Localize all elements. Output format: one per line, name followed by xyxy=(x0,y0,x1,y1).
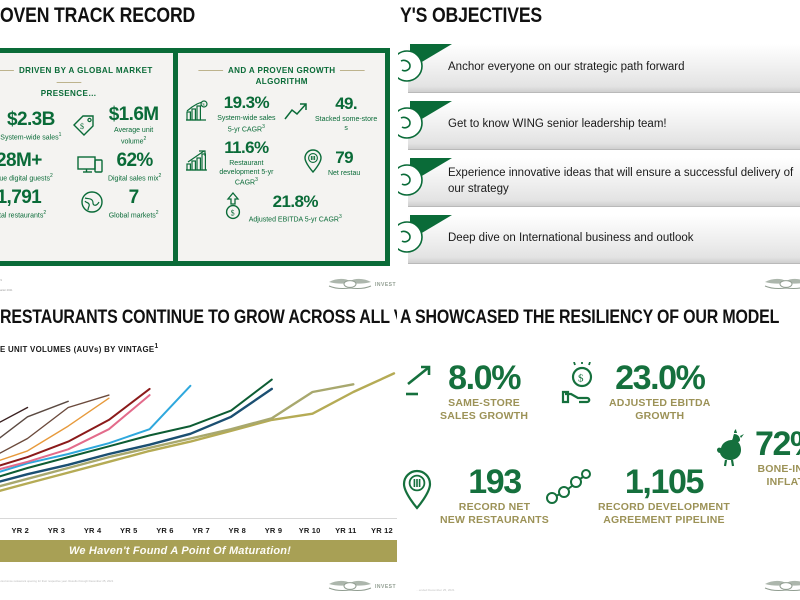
stat-label-text: Global markets xyxy=(109,213,156,220)
stat-value: 79 xyxy=(335,148,353,167)
objective-bar: Experience innovative ideas that will en… xyxy=(408,158,800,207)
stat-label-sup: 2 xyxy=(156,210,159,216)
x-tick-3: YR 3 xyxy=(38,526,74,535)
stat-text: 49. Stacked some-store s xyxy=(313,95,379,134)
stat-label-sup: 2 xyxy=(144,136,147,142)
stat-value: 28M+ xyxy=(0,150,42,171)
globe-icon xyxy=(79,189,105,220)
global-presence-heading: DRIVEN BY A GLOBAL MARKET PRESENCE… xyxy=(0,65,164,99)
objective-row-4[interactable]: Deep dive on International business and … xyxy=(398,215,800,263)
trend-arrow-icon xyxy=(283,101,309,128)
kpi-body: 72% BONE-IN W INFLATI xyxy=(755,428,800,488)
trend-arrow-icon xyxy=(404,362,434,407)
stat-label-text: Digital sales mix xyxy=(108,176,159,183)
kpi-label-line2: GROWTH xyxy=(609,410,711,423)
kpi-record-development-agreement-pipeline: 1,105 RECORD DEVELOPMENT AGREEMENT PIPEL… xyxy=(546,466,730,526)
kpi-body: 1,105 RECORD DEVELOPMENT AGREEMENT PIPEL… xyxy=(598,466,730,526)
x-axis-tick-labels: YR 1YR 2YR 3YR 4YR 5YR 6YR 7YR 8YR 9YR 1… xyxy=(0,519,400,541)
stat-total-restaurants: 1,791 Total restaurants2 xyxy=(0,186,69,223)
slide-vintage-chart: RESTAURANTS CONTINUE TO GROW ACROSS ALL … xyxy=(0,300,400,600)
slide1-title: OVEN TRACK RECORD xyxy=(0,4,195,28)
stat-label-text: System-wide sales 5-yr CAGR xyxy=(217,115,275,133)
x-tick-2: YR 2 xyxy=(2,526,38,535)
stat-label-text: System-wide sales xyxy=(0,134,58,141)
stat-value: 1,791 xyxy=(0,187,41,208)
kpi-value: 8.0% xyxy=(440,362,528,394)
global-presence-stats: $2.3B System-wide sales1 $ $1.6M Average… xyxy=(0,103,169,223)
slide4-footnote: …ended December 25, 2021 xyxy=(416,588,455,592)
stat-label: Unique digital guests2 xyxy=(0,173,53,184)
stat-label: Digital sales mix2 xyxy=(108,173,161,184)
fine-print-line: …of 2017 to end of the fiscal quarter 20… xyxy=(0,289,164,294)
wings-logo-icon xyxy=(764,278,800,292)
objective-bar: Get to know WING senior leadership team! xyxy=(408,101,800,150)
x-tick-4: YR 4 xyxy=(75,526,111,535)
x-tick-6: YR 6 xyxy=(147,526,183,535)
stat-value: 21.8% xyxy=(273,192,318,211)
slide-seam-vertical xyxy=(397,0,398,600)
stat-label-sup: 3 xyxy=(339,214,342,220)
stat-label-sup: 2 xyxy=(50,173,53,179)
stat-label-text: Adjusted EBITDA 5-yr CAGR xyxy=(249,216,339,223)
stat-label: Global markets2 xyxy=(109,210,159,221)
kpi-same-store-sales-growth: 8.0% SAME-STORE SALES GROWTH xyxy=(404,362,528,422)
stat-digital-sales-mix: 62% Digital sales mix2 xyxy=(69,149,169,186)
stat-text: 28M+ Unique digital guests2 xyxy=(0,151,53,184)
x-tick-7: YR 7 xyxy=(183,526,219,535)
objective-row-2[interactable]: Get to know WING senior leadership team! xyxy=(398,101,800,149)
maturation-banner-text: We Haven't Found A Point Of Maturation! xyxy=(69,545,291,557)
slide1-fine-print: …ended December 25, 2021 …ended March 26… xyxy=(0,270,164,293)
chart-x-axis: YR 1YR 2YR 3YR 4YR 5YR 6YR 7YR 8YR 9YR 1… xyxy=(0,518,400,542)
objective-bar: Anchor everyone on our strategic path fo… xyxy=(408,44,800,93)
x-tick-12: YR 12 xyxy=(364,526,400,535)
stat-text: 21.8% Adjusted EBITDA 5-yr CAGR3 xyxy=(249,193,342,225)
kpi-label-line2: AGREEMENT PIPELINE xyxy=(598,514,730,527)
chart-line-vintage-a xyxy=(0,373,394,503)
stat-value: 49. xyxy=(335,94,357,113)
stat-average-unit-volume: $ $1.6M Average unit volume2 xyxy=(69,103,169,149)
slide4-title: A SHOWCASED THE RESILIENCY OF OUR MODEL xyxy=(400,307,779,329)
logo-label: INVEST xyxy=(375,584,396,590)
stat-label-text: Total restaurants xyxy=(0,213,43,220)
stat-value: $1.6M xyxy=(109,104,159,125)
global-presence-panel: DRIVEN BY A GLOBAL MARKET PRESENCE… $2.3… xyxy=(0,53,173,261)
stat-label-text: Average unit volume xyxy=(114,127,153,145)
stat-label: System-wide sales 5-yr CAGR3 xyxy=(214,115,280,135)
kpi-label-line2: SALES GROWTH xyxy=(440,410,528,423)
stat-system-wide-sales-cagr: $ 19.3% System-wide sales 5-yr CAGR3 xyxy=(182,92,282,137)
stat-label: Stacked some-store s xyxy=(313,116,379,134)
stat-label-text: Unique digital guests xyxy=(0,176,50,183)
bar-chart-up-icon xyxy=(184,149,210,178)
chart-subtitle-text: E UNIT VOLUMES (AUVs) BY VINTAGE xyxy=(0,344,154,354)
x-tick-9: YR 9 xyxy=(255,526,291,535)
map-pin-icon xyxy=(400,466,434,515)
logo-label: INVEST xyxy=(375,282,396,288)
stat-label-sup: 1 xyxy=(59,132,62,138)
dollar-up-arrow-icon: $ xyxy=(221,192,245,225)
maturation-banner: We Haven't Found A Point Of Maturation! xyxy=(0,540,400,562)
objective-label: Experience innovative ideas that will en… xyxy=(448,166,800,197)
kpi-value: 23.0% xyxy=(609,362,711,394)
wing-badge-icon xyxy=(398,49,424,83)
wingstop-logo: INVEST xyxy=(328,580,396,594)
objectives-list: Anchor everyone on our strategic path fo… xyxy=(398,44,800,272)
stat-restaurant-development-cagr: 11.6% Restaurant development 5-yr CAGR3 xyxy=(182,137,282,191)
stat-label-text: Restaurant development 5-yr CAGR xyxy=(219,160,273,187)
chart-subtitle-sup: 1 xyxy=(154,342,158,350)
kpi-value: 1,105 xyxy=(598,466,730,498)
stat-text: 1,791 Total restaurants2 xyxy=(0,188,46,221)
stat-label-sup: 3 xyxy=(255,177,258,183)
pipeline-nodes-icon xyxy=(546,466,592,515)
stat-text: 79 Net restau xyxy=(328,149,360,179)
objective-row-3[interactable]: Experience innovative ideas that will en… xyxy=(398,158,800,206)
auv-chart-svg xyxy=(0,355,400,520)
stat-adjusted-ebitda-cagr: $ 21.8% Adjusted EBITDA 5-yr CAGR3 xyxy=(182,190,382,227)
growth-algorithm-panel: AND A PROVEN GROWTH ALGORITHM $ 19.3% Sy… xyxy=(173,53,386,261)
x-tick-11: YR 11 xyxy=(328,526,364,535)
kpi-label-line2: INFLATI xyxy=(755,476,800,489)
x-tick-10: YR 10 xyxy=(292,526,328,535)
growth-heading-line1: AND A PROVEN GROWTH xyxy=(227,65,335,75)
wingstop-logo: INVEST xyxy=(328,278,396,292)
stat-unique-digital-guests: 28M+ Unique digital guests2 xyxy=(0,149,69,186)
stat-net-new-restaurants: 79 Net restau xyxy=(281,137,381,191)
slide2-title: Y'S OBJECTIVES xyxy=(400,4,542,28)
devices-icon xyxy=(76,154,104,181)
stat-label-sup: 2 xyxy=(159,173,162,179)
stat-label: Restaurant development 5-yr CAGR3 xyxy=(214,160,280,189)
kpi-label-line1: RECORD NET xyxy=(440,501,549,514)
wingstop-logo: INVEST xyxy=(764,278,800,292)
resiliency-kpis: 8.0% SAME-STORE SALES GROWTH $ 23.0% ADJ… xyxy=(398,348,800,548)
wingstop-logo: INVEST xyxy=(764,580,800,594)
slide-track-record: OVEN TRACK RECORD DRIVEN BY A GLOBAL MAR… xyxy=(0,0,400,300)
wings-logo-icon xyxy=(328,580,372,594)
kpi-value: 193 xyxy=(440,466,549,498)
heading-rule-left xyxy=(0,70,14,71)
growth-algorithm-stats: $ 19.3% System-wide sales 5-yr CAGR3 49. xyxy=(182,92,382,227)
objective-label: Get to know WING senior leadership team! xyxy=(448,117,667,133)
heading-rule-right xyxy=(340,70,365,71)
objective-bar: Deep dive on International business and … xyxy=(408,215,800,264)
stat-system-wide-sales: $2.3B System-wide sales1 xyxy=(0,103,69,149)
stat-value: $2.3B xyxy=(7,109,55,130)
wing-badge-icon xyxy=(398,106,424,140)
kpi-label-line1: RECORD DEVELOPMENT xyxy=(598,501,730,514)
slide-deck-grid: OVEN TRACK RECORD DRIVEN BY A GLOBAL MAR… xyxy=(0,0,800,600)
heading-rule-right xyxy=(56,82,81,83)
kpi-value: 72% xyxy=(755,428,800,460)
stat-stacked-same-store-sales: 49. Stacked some-store s xyxy=(281,92,381,137)
x-tick-5: YR 5 xyxy=(111,526,147,535)
slide-resiliency: A SHOWCASED THE RESILIENCY OF OUR MODEL … xyxy=(398,300,800,600)
auv-line-chart xyxy=(0,355,400,520)
stat-value: 7 xyxy=(129,187,139,208)
kpi-label-line1: BONE-IN W xyxy=(755,463,800,476)
hand-coin-icon: $ xyxy=(561,362,603,413)
stat-label: Average unit volume2 xyxy=(101,127,167,147)
kpi-body: 193 RECORD NET NEW RESTAURANTS xyxy=(440,466,549,526)
stat-text: $1.6M Average unit volume2 xyxy=(101,105,167,147)
kpi-record-net-new-restaurants: 193 RECORD NET NEW RESTAURANTS xyxy=(400,466,549,526)
objective-label: Anchor everyone on our strategic path fo… xyxy=(448,60,685,76)
kpi-label-line1: SAME-STORE xyxy=(440,397,528,410)
stat-label: Total restaurants2 xyxy=(0,210,46,221)
objective-label: Deep dive on International business and … xyxy=(448,231,694,247)
chart-subtitle: E UNIT VOLUMES (AUVs) BY VINTAGE1 xyxy=(0,342,158,354)
x-tick-8: YR 8 xyxy=(219,526,255,535)
heading-rule-left xyxy=(198,70,223,71)
kpi-label-line1: ADJUSTED EBITDA xyxy=(609,397,711,410)
kpi-body: 23.0% ADJUSTED EBITDA GROWTH xyxy=(609,362,711,422)
stat-label-sup: 2 xyxy=(43,210,46,216)
stat-label-sup: 3 xyxy=(262,124,265,130)
wing-badge-icon xyxy=(398,163,424,197)
stat-text: 19.3% System-wide sales 5-yr CAGR3 xyxy=(214,94,280,135)
global-presence-heading-line2: PRESENCE… xyxy=(41,88,97,98)
slide-seam-horizontal xyxy=(0,299,800,300)
chart-footnote: …shown for each 12 week period since res… xyxy=(0,579,113,583)
stat-value: 62% xyxy=(117,150,153,171)
slide-objectives: Y'S OBJECTIVES Anchor everyone on our st… xyxy=(398,0,800,300)
wings-logo-icon xyxy=(328,278,372,292)
stat-text: 7 Global markets2 xyxy=(109,188,159,221)
stat-text: 62% Digital sales mix2 xyxy=(108,151,161,184)
kpi-adjusted-ebitda-growth: $ 23.0% ADJUSTED EBITDA GROWTH xyxy=(561,362,711,422)
bar-chart-dollar-icon: $ xyxy=(184,100,210,129)
kpi-label-line2: NEW RESTAURANTS xyxy=(440,514,549,527)
map-pin-icon xyxy=(302,148,324,179)
stat-text: $2.3B System-wide sales1 xyxy=(0,110,61,143)
growth-algorithm-heading: AND A PROVEN GROWTH ALGORITHM xyxy=(186,65,376,88)
wing-badge-icon xyxy=(398,220,424,254)
track-record-panel: DRIVEN BY A GLOBAL MARKET PRESENCE… $2.3… xyxy=(0,48,390,266)
global-presence-heading-line1: DRIVEN BY A GLOBAL MARKET xyxy=(19,65,153,75)
stat-label: Net restau xyxy=(328,170,360,179)
objective-row-1[interactable]: Anchor everyone on our strategic path fo… xyxy=(398,44,800,92)
slide3-title: RESTAURANTS CONTINUE TO GROW ACROSS ALL … xyxy=(0,307,400,329)
wings-logo-icon xyxy=(764,580,800,594)
stat-text: 11.6% Restaurant development 5-yr CAGR3 xyxy=(214,139,280,189)
price-tag-icon: $ xyxy=(71,112,97,141)
stat-label: System-wide sales1 xyxy=(0,132,61,143)
stat-global-markets: 7 Global markets2 xyxy=(69,186,169,223)
growth-heading-line2: ALGORITHM xyxy=(255,76,307,86)
svg-text:$: $ xyxy=(578,373,584,385)
stat-label: Adjusted EBITDA 5-yr CAGR3 xyxy=(249,214,342,225)
svg-text:$: $ xyxy=(80,122,84,131)
stat-value: 11.6% xyxy=(224,138,268,157)
kpi-body: 8.0% SAME-STORE SALES GROWTH xyxy=(440,362,528,422)
stat-value: 19.3% xyxy=(224,93,269,112)
svg-text:$: $ xyxy=(230,209,234,218)
